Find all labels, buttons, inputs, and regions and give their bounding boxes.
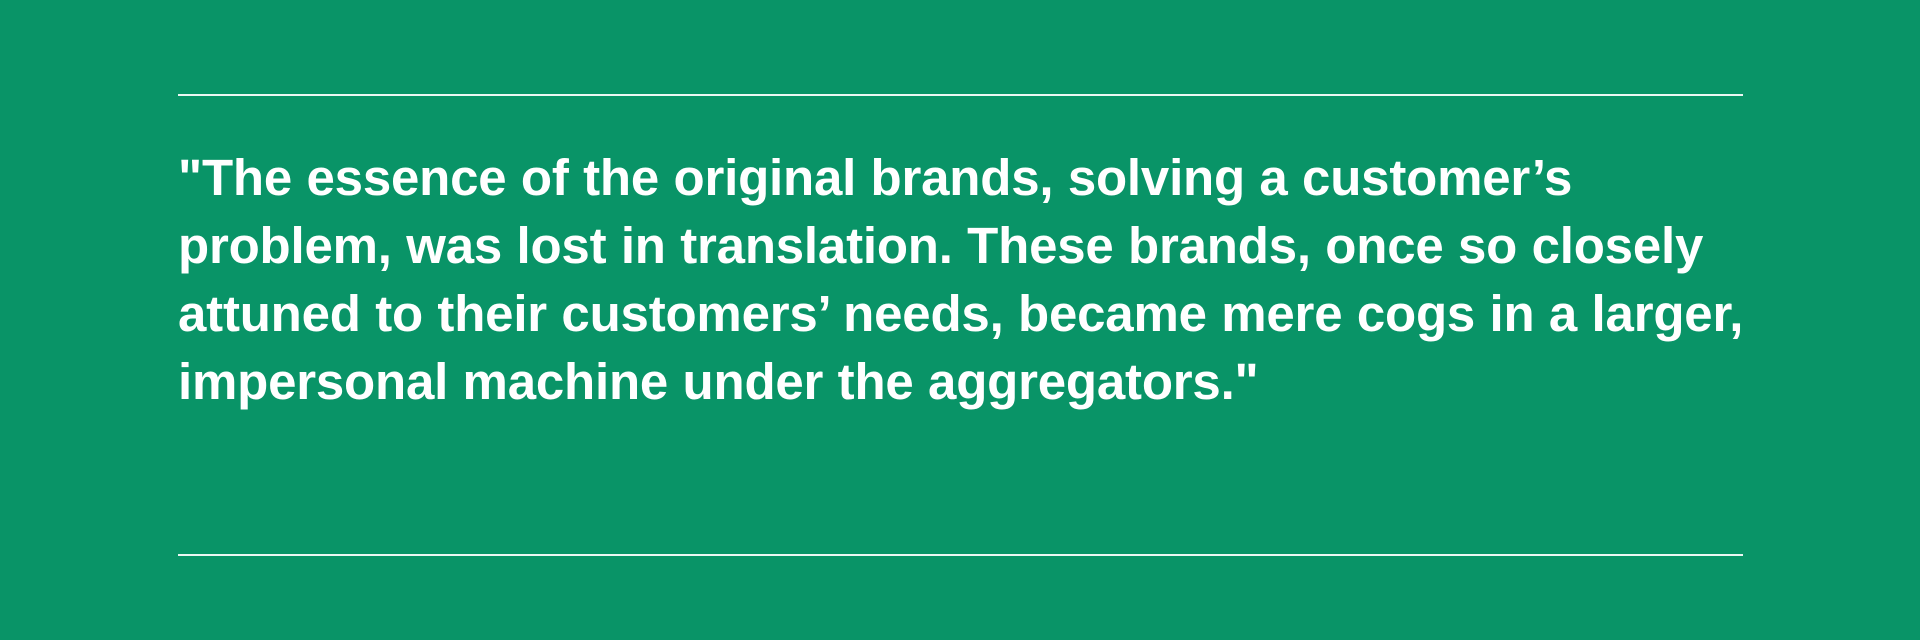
quote-block: "The essence of the original brands, sol… — [178, 144, 1758, 416]
pull-quote-card: "The essence of the original brands, sol… — [0, 0, 1920, 640]
top-divider-rule — [178, 94, 1743, 96]
pull-quote-text: "The essence of the original brands, sol… — [178, 144, 1758, 416]
bottom-divider-rule — [178, 554, 1743, 556]
